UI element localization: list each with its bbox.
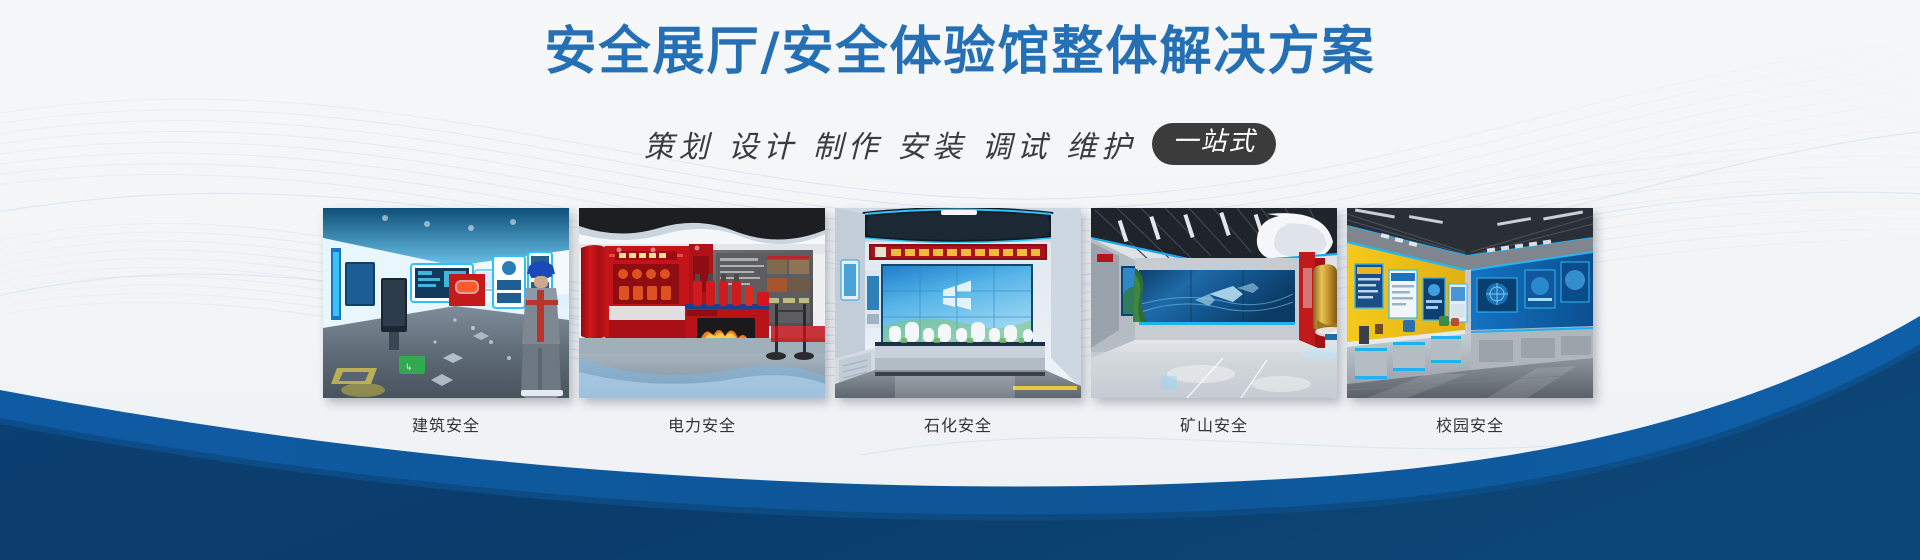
gallery-item-petrochemical[interactable]: 石化安全 (835, 208, 1081, 436)
gallery-item-caption: 电力安全 (579, 412, 825, 436)
svg-text:↳: ↳ (405, 363, 413, 373)
page-title: 安全展厅/安全体验馆整体解决方案 (0, 22, 1920, 82)
headline-container: 安全展厅/安全体验馆整体解决方案 (0, 22, 1920, 82)
thumbnail-mining[interactable] (1091, 208, 1337, 398)
gallery: ↳ 建筑安全 (323, 208, 1597, 436)
promo-banner: 安全展厅/安全体验馆整体解决方案 策划 设计 制作 安装 调试 维护 一站式 (0, 0, 1920, 560)
gallery-item-caption: 矿山安全 (1091, 412, 1337, 436)
gallery-item-caption: 建筑安全 (323, 412, 569, 436)
thumbnail-power[interactable] (579, 208, 825, 398)
thumbnail-construction[interactable]: ↳ (323, 208, 569, 398)
subtitle-container: 策划 设计 制作 安装 调试 维护 一站式 (0, 122, 1920, 166)
gallery-item-caption: 石化安全 (835, 412, 1081, 436)
gallery-item-campus[interactable]: 校园安全 (1347, 208, 1593, 436)
gallery-item-construction[interactable]: ↳ 建筑安全 (323, 208, 569, 436)
service-steps-text: 策划 设计 制作 安装 调试 维护 (644, 122, 1137, 166)
gallery-item-mining[interactable]: 矿山安全 (1091, 208, 1337, 436)
gallery-item-caption: 校园安全 (1347, 412, 1593, 436)
one-stop-badge: 一站式 (1152, 123, 1276, 165)
thumbnail-petrochemical[interactable] (835, 208, 1081, 398)
thumbnail-campus[interactable] (1347, 208, 1593, 398)
gallery-item-power[interactable]: 电力安全 (579, 208, 825, 436)
